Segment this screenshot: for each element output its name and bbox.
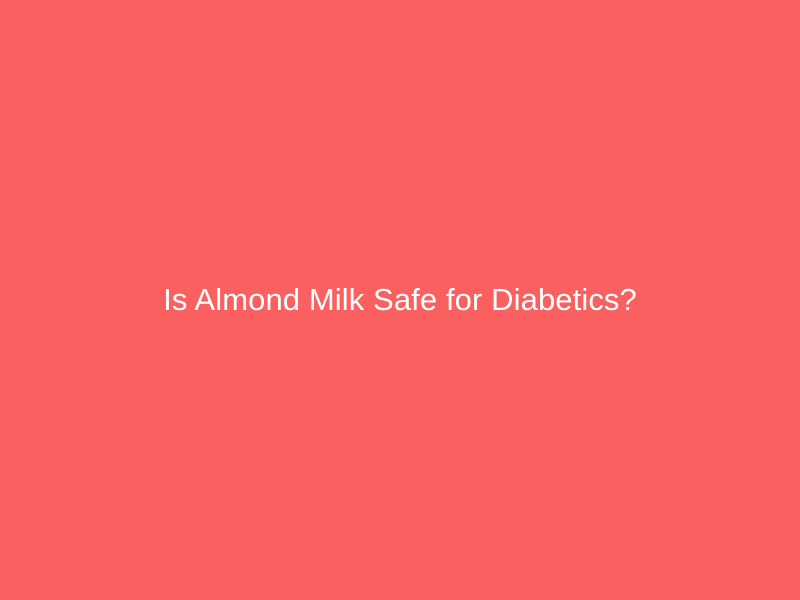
share-card: Is Almond Milk Safe for Diabetics? bbox=[0, 0, 800, 600]
page-title: Is Almond Milk Safe for Diabetics? bbox=[163, 281, 637, 320]
